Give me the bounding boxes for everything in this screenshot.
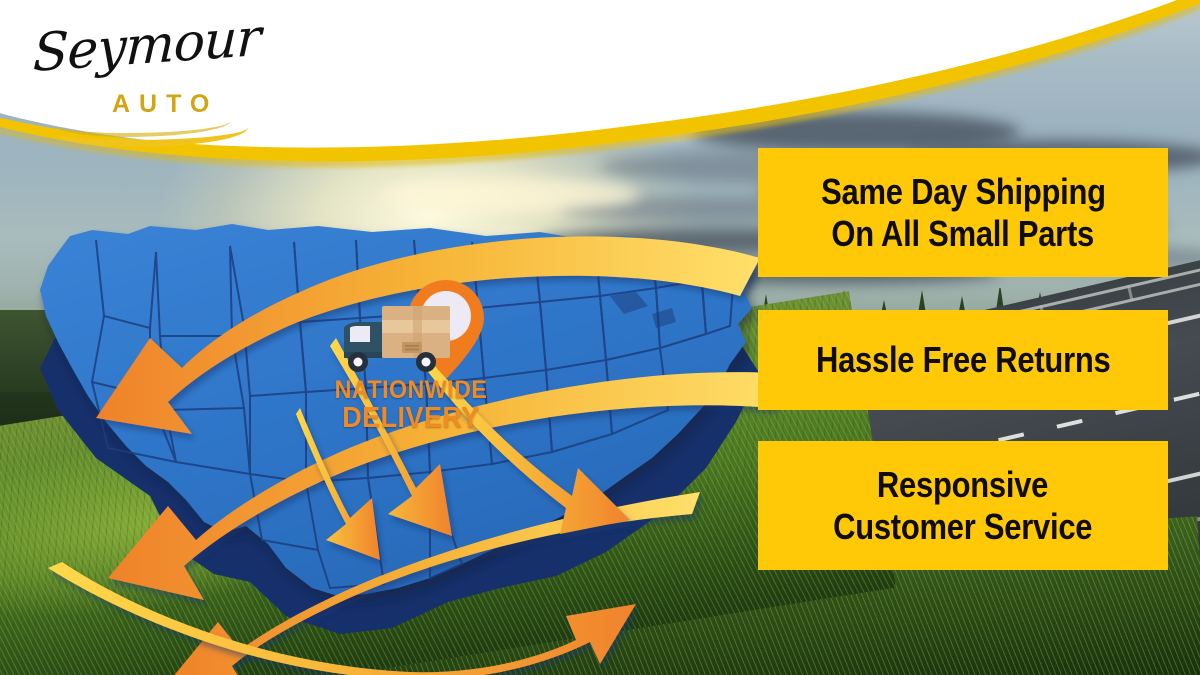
- brand-logo[interactable]: Seymour AUTO: [26, 18, 286, 128]
- usa-map-graphic: [0, 196, 800, 666]
- callout-line: Hassle Free Returns: [816, 339, 1111, 381]
- delivery-truck-icon: [344, 306, 450, 372]
- callout-hassle-free-returns[interactable]: Hassle Free Returns: [758, 310, 1168, 410]
- brand-subtitle: AUTO: [112, 90, 218, 119]
- callout-line: Customer Service: [833, 506, 1092, 548]
- marketing-banner: Seymour AUTO: [0, 0, 1200, 675]
- callout-responsive-customer-service[interactable]: Responsive Customer Service: [758, 441, 1168, 570]
- callout-line: Same Day Shipping: [821, 171, 1106, 213]
- callout-same-day-shipping[interactable]: Same Day Shipping On All Small Parts: [758, 148, 1168, 277]
- delivery-icon-group: [326, 278, 506, 388]
- brand-name: Seymour: [32, 8, 261, 84]
- callout-line: Responsive: [877, 464, 1048, 506]
- callout-line: On All Small Parts: [832, 213, 1095, 255]
